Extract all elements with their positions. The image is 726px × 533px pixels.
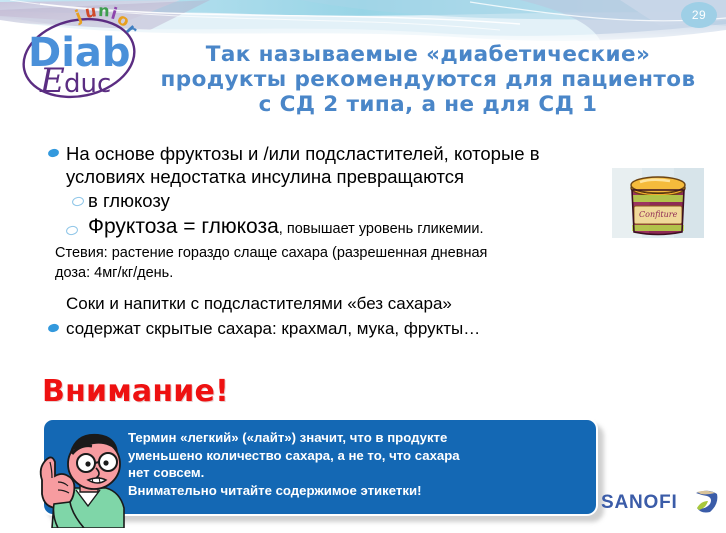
diab-educ-junior-logo: Diab E duc j u n i o r (16, 2, 152, 104)
sub-2-main: Фруктоза = глюкоза (88, 215, 279, 238)
stevia-note: Стевия: растение гораздо слаще сахара (р… (44, 244, 712, 283)
logo-graphic: Diab E duc j u n i o r (16, 2, 152, 104)
title-line-2: продукты рекомендуются для пациентов (148, 67, 708, 92)
page-number-badge: 29 (681, 2, 717, 28)
sub-item-2: Фруктоза = глюкоза, повышает уровень гли… (44, 215, 712, 239)
svg-text:n: n (98, 2, 110, 20)
sanofi-logo: SANOFI (601, 490, 719, 520)
sub-2-tail: , повышает уровень гликемии. (279, 221, 484, 237)
juices-line: Соки и напитки с подсластителями «без са… (44, 292, 712, 315)
bullet-item-2: содержат скрытые сахара: крахмал, мука, … (44, 317, 712, 340)
hollow-bullet-icon (65, 225, 79, 236)
logo-letter-e: E (39, 61, 65, 101)
attention-heading: Внимание! (42, 374, 229, 409)
cartoon-doctor-character (28, 428, 132, 528)
sub-item-1: в глюкозу (44, 189, 712, 212)
title-line-3: с СД 2 типа, а не для СД 1 (148, 92, 708, 117)
sub-1-text: в глюкозу (88, 189, 712, 212)
slide-canvas: 29 Diab E duc j u n i o r Так называемые… (0, 0, 726, 533)
bullet-1-line-2: условиях недостатка инсулина превращаютс… (66, 165, 712, 188)
callout-line-4: Внимательно читайте содержимое этикетки! (128, 482, 588, 500)
sanofi-wordmark: SANOFI (601, 492, 678, 514)
callout-line-2: уменьшено количество сахара, а не то, чт… (128, 447, 588, 465)
body-content: На основе фруктозы и /или подсластителей… (44, 142, 712, 340)
stevia-line-2: доза: 4мг/кг/день. (55, 264, 712, 284)
bullet-2-text: содержат скрытые сахара: крахмал, мука, … (66, 319, 480, 338)
callout-line-1: Термин «легкий» («лайт») значит, что в п… (128, 429, 588, 447)
character-graphic (28, 428, 132, 528)
title-line-1: Так называемые «диабетические» (148, 42, 708, 67)
stevia-line-1: Стевия: растение гораздо слаще сахара (р… (55, 244, 712, 264)
hollow-bullet-icon (71, 196, 85, 207)
logo-word-duc: duc (64, 69, 111, 99)
bullet-item-1: На основе фруктозы и /или подсластителей… (44, 142, 712, 188)
callout-line-3: нет совсем. (128, 464, 588, 482)
svg-text:u: u (83, 2, 98, 22)
svg-text:j: j (71, 6, 84, 26)
bullet-dot-icon (47, 323, 59, 333)
sanofi-symbol-icon (693, 488, 720, 515)
bullet-dot-icon (47, 148, 59, 158)
slide-title: Так называемые «диабетические» продукты … (148, 42, 708, 117)
bullet-1-line-1: На основе фруктозы и /или подсластителей… (66, 142, 712, 165)
callout-text: Термин «легкий» («лайт») значит, что в п… (128, 429, 588, 499)
